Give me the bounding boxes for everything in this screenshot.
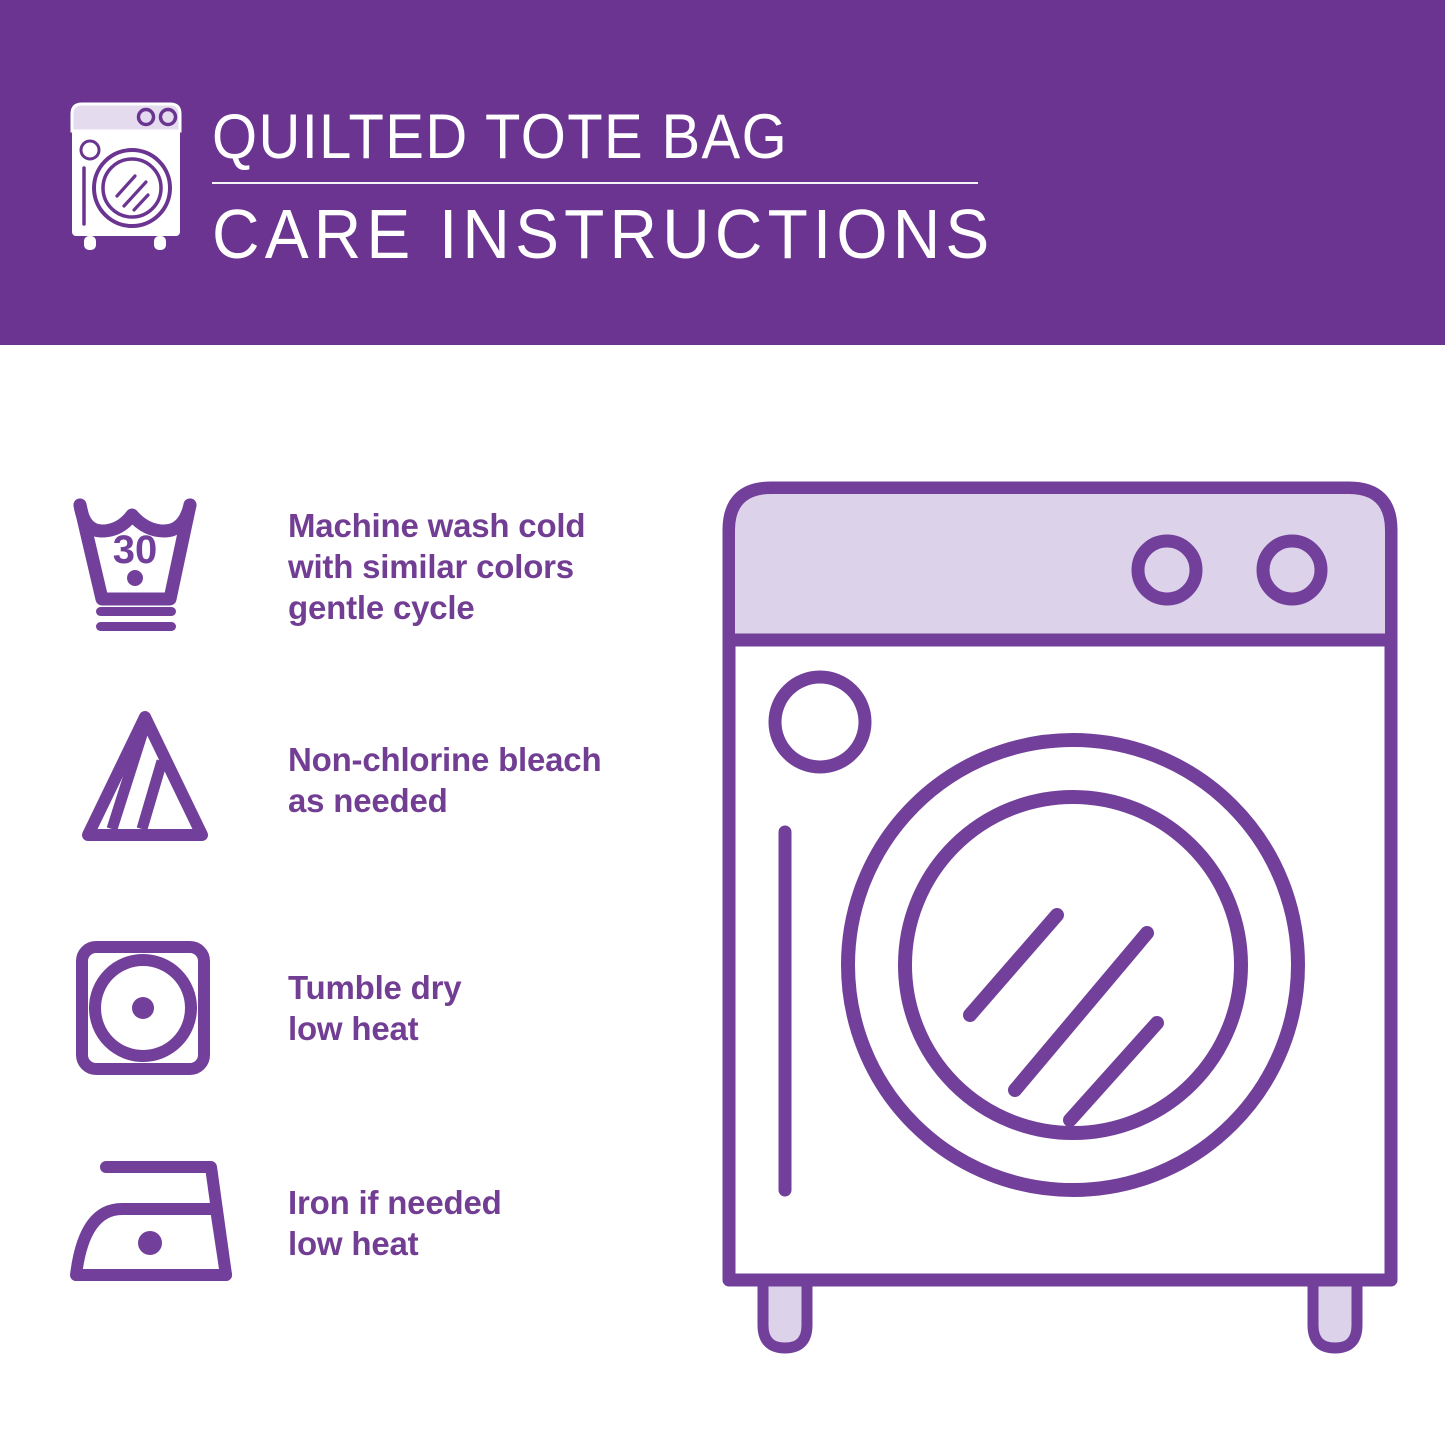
large-washing-machine-illustration [715,470,1405,1370]
header-text-block: QUILTED TOTE BAG CARE INSTRUCTIONS [212,100,1002,274]
title-divider [212,182,978,184]
instruction-label-bleach: Non-chlorine bleach as needed [288,739,601,821]
instruction-item-iron: Iron if needed low heat [66,1153,686,1293]
instruction-list: 30 Machine wash cold with similar colors… [0,345,700,1445]
page-subtitle: CARE INSTRUCTIONS [212,194,955,274]
washing-machine-logo-icon [62,98,190,250]
non-chlorine-bleach-triangle-icon [66,705,246,855]
instruction-item-machine-wash: 30 Machine wash cold with similar colors… [66,491,686,641]
tumble-dry-low-heat-icon [66,933,246,1083]
instruction-label-tumble-dry: Tumble dry low heat [288,967,461,1049]
instruction-label-iron: Iron if needed low heat [288,1182,502,1264]
instruction-item-tumble-dry: Tumble dry low heat [66,933,686,1083]
instruction-item-bleach: Non-chlorine bleach as needed [66,705,686,855]
header-band: QUILTED TOTE BAG CARE INSTRUCTIONS [0,0,1445,345]
control-knob-left [1138,541,1196,599]
care-instructions-page: QUILTED TOTE BAG CARE INSTRUCTIONS 30 [0,0,1445,1445]
wash-tub-30-gentle-icon: 30 [66,491,246,641]
page-title: QUILTED TOTE BAG [212,100,939,174]
iron-low-heat-icon [66,1153,246,1293]
wash-temp-label: 30 [113,528,158,572]
control-knob-right [1263,541,1321,599]
instruction-label-machine-wash: Machine wash cold with similar colors ge… [288,505,585,628]
